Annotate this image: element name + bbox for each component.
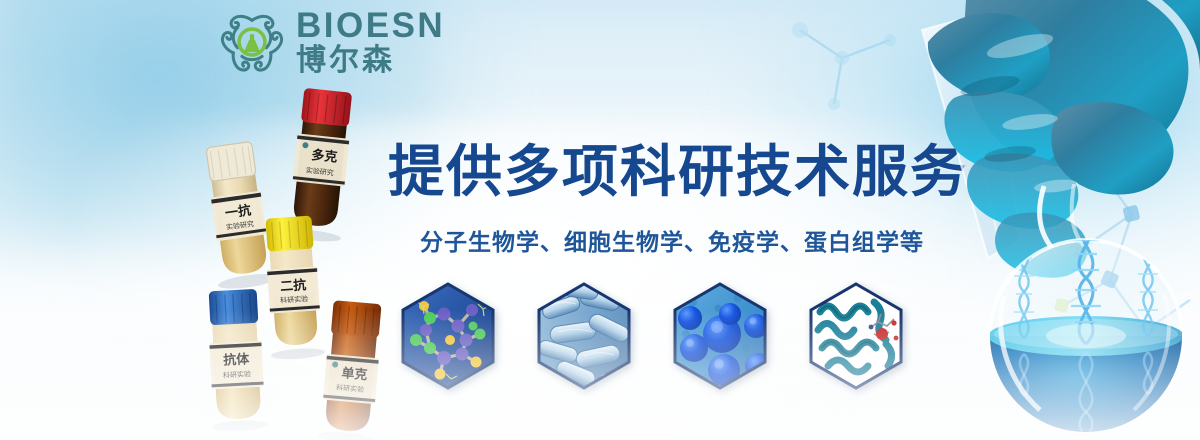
svg-text:多克: 多克 [311, 147, 339, 166]
bioesn-flask-vine-logo-icon [216, 6, 288, 78]
brand-logo-text: BIOESN 博尔森 [296, 8, 445, 76]
bottom-fade-overlay [0, 310, 1200, 440]
banner-subheadline: 分子生物学、细胞生物学、免疫学、蛋白组学等 [420, 223, 924, 257]
brand-logo[interactable]: BIOESN 博尔森 [216, 6, 445, 78]
promo-banner: BIOESN 博尔森 提供多项科研技术服务 分子生物学、细胞生物学、免疫学、蛋白… [0, 0, 1200, 440]
svg-text:二抗: 二抗 [280, 277, 307, 295]
brand-name-en: BIOESN [296, 8, 445, 43]
brand-name-cn: 博尔森 [296, 46, 445, 76]
